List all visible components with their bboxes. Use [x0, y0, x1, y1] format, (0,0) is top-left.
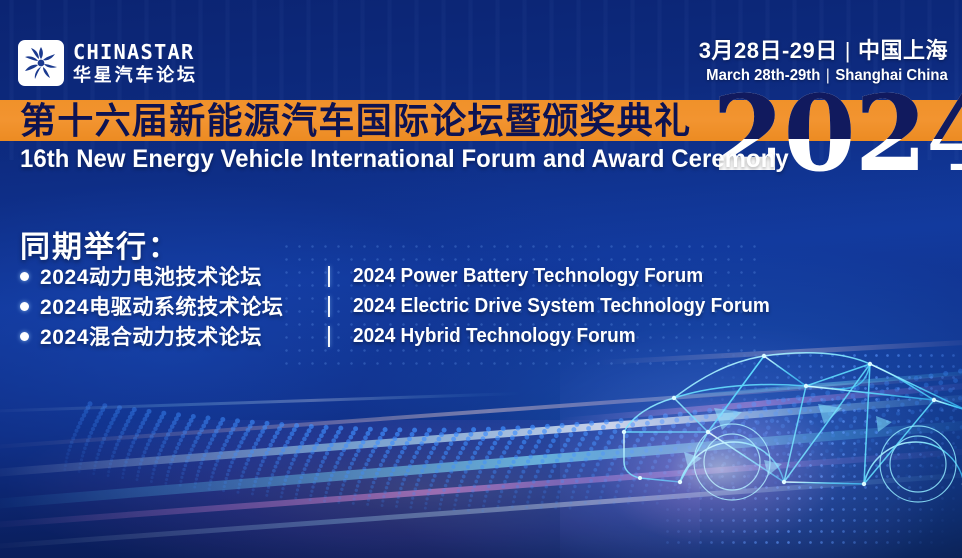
event-date-en: March 28th-29th [706, 67, 820, 84]
forum-name-en: 2024 Hybrid Technology Forum [353, 325, 636, 348]
background-center-glow [560, 330, 962, 558]
date-separator-cn: | [845, 38, 851, 63]
background-dot-wave [0, 330, 962, 558]
event-location-en: Shanghai China [836, 67, 948, 84]
brand-name-cn: 华星汽车论坛 [73, 66, 198, 84]
program-heading: 同期举行： [20, 222, 180, 266]
forum-name-en: 2024 Power Battery Technology Forum [353, 265, 703, 288]
date-separator-en: | [826, 67, 830, 84]
banner-header: CHINASTAR 华星汽车论坛 3月28日-29日|中国上海 March 28… [0, 0, 962, 100]
program-list: 2024动力电池技术论坛 2024 Power Battery Technolo… [20, 261, 792, 351]
background-warm-glow [0, 420, 700, 558]
event-location-cn: 中国上海 [858, 38, 948, 63]
bullet-icon [20, 302, 29, 311]
list-item[interactable]: 2024动力电池技术论坛 2024 Power Battery Technolo… [20, 261, 792, 291]
forum-name-en: 2024 Electric Drive System Technology Fo… [353, 295, 770, 318]
background-dot-grid [662, 350, 962, 550]
brand-logo[interactable]: CHINASTAR 华星汽车论坛 [18, 40, 198, 86]
event-date-cn: 3月28日-29日 [699, 38, 838, 63]
page-title-cn: 第十六届新能源汽车国际论坛暨颁奖典礼 [20, 99, 691, 142]
list-item[interactable]: 2024混合动力技术论坛 2024 Hybrid Technology Foru… [20, 321, 792, 351]
forum-name-cn: 2024混合动力技术论坛 [40, 321, 328, 351]
list-item[interactable]: 2024电驱动系统技术论坛 2024 Electric Drive System… [20, 291, 792, 321]
star-burst-icon [18, 40, 64, 86]
forum-name-cn: 2024电驱动系统技术论坛 [40, 291, 328, 321]
event-banner: CHINASTAR 华星汽车论坛 3月28日-29日|中国上海 March 28… [0, 0, 962, 558]
divider [328, 326, 330, 347]
forum-name-cn: 2024动力电池技术论坛 [40, 261, 328, 291]
divider [328, 296, 330, 317]
bullet-icon [20, 272, 29, 281]
bullet-icon [20, 332, 29, 341]
event-date-location: 3月28日-29日|中国上海 March 28th-29th|Shanghai … [688, 38, 948, 85]
divider [328, 266, 330, 287]
page-title-en: 16th New Energy Vehicle International Fo… [20, 145, 789, 174]
brand-name-en: CHINASTAR [73, 42, 200, 62]
